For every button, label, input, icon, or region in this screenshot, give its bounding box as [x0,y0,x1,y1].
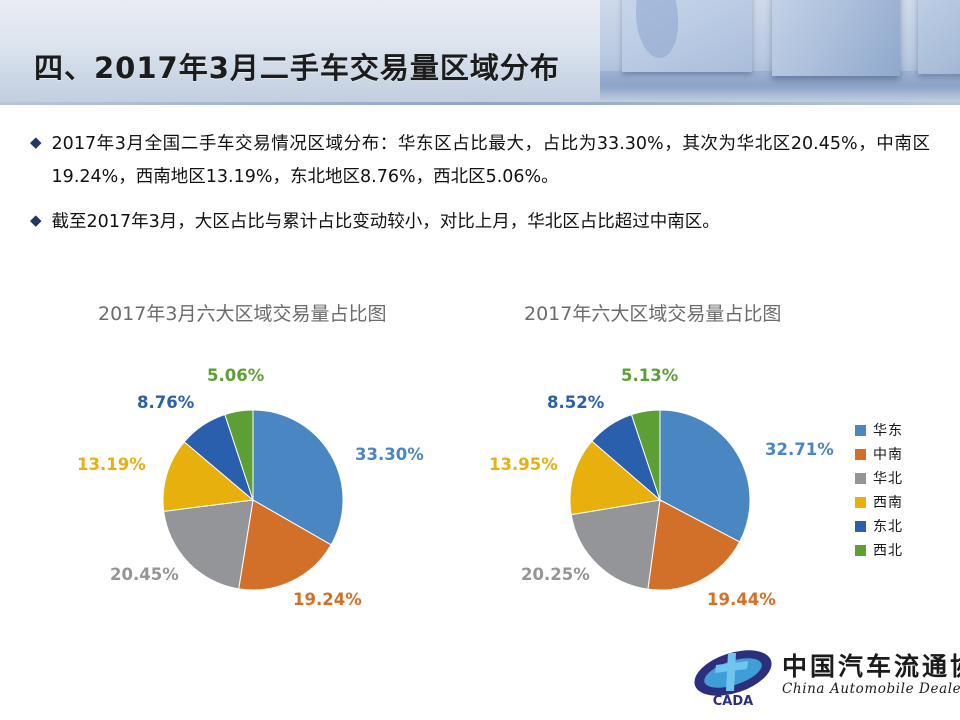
chart-legend: 华东中南华北西南东北西北 [855,418,903,562]
bullet-text: 2017年3月全国二手车交易情况区域分布：华东区占比最大，占比为33.30%，其… [52,128,930,194]
bullet-item: ◆ 截至2017年3月，大区占比与累计占比变动较小，对比上月，华北区占比超过中南… [30,206,930,239]
legend-swatch-icon [855,545,866,556]
diamond-bullet-icon: ◆ [30,206,42,236]
header-underline [0,102,960,105]
legend-label: 西南 [873,492,903,512]
pie-value-label-华东: 33.30% [355,445,424,464]
legend-item-中南[interactable]: 中南 [855,442,903,466]
cada-abbr: CADA [713,694,753,709]
chart-title-monthly: 2017年3月六大区域交易量占比图 [98,299,386,326]
legend-item-西北[interactable]: 西北 [855,538,903,562]
page-title: 四、2017年3月二手车交易量区域分布 [34,45,560,87]
legend-item-华北[interactable]: 华北 [855,466,903,490]
logo-chinese-name: 中国汽车流通协会 [782,647,960,683]
pie-value-label-西北: 5.06% [207,366,264,385]
pie-value-label-西南: 13.95% [489,455,558,474]
legend-swatch-icon [855,521,866,532]
bullet-item: ◆ 2017年3月全国二手车交易情况区域分布：华东区占比最大，占比为33.30%… [30,128,930,194]
legend-swatch-icon [855,449,866,460]
legend-item-西南[interactable]: 西南 [855,490,903,514]
pie-value-label-东北: 8.52% [547,393,604,412]
pie-value-label-东北: 8.76% [137,393,194,412]
cube-shape-2 [772,0,900,76]
legend-swatch-icon [855,497,866,508]
pie-value-label-中南: 19.24% [293,590,362,609]
cube-shape-3 [918,0,960,74]
pie-slices-cumulative [570,410,750,590]
pie-chart-cumulative: 32.71%19.44%20.25%13.95%8.52%5.13% [425,350,905,650]
pie-value-label-华北: 20.45% [110,565,179,584]
legend-label: 西北 [873,540,903,560]
pie-chart-monthly: 33.30%19.24%20.45%13.19%8.76%5.06% [15,350,495,650]
legend-label: 东北 [873,516,903,536]
legend-item-东北[interactable]: 东北 [855,514,903,538]
pie-value-label-西北: 5.13% [621,366,678,385]
pie-slices-monthly [163,410,343,590]
pie-svg-monthly [15,350,495,650]
header-cubes-image [600,0,960,105]
cubes-floor [600,71,960,105]
slide-header: 四、2017年3月二手车交易量区域分布 [0,0,960,105]
pie-svg-cumulative [425,350,905,650]
legend-label: 华东 [873,420,903,440]
cada-logo-mark-icon: CADA [690,647,776,709]
pie-value-label-中南: 19.44% [707,590,776,609]
legend-item-华东[interactable]: 华东 [855,418,903,442]
legend-label: 华北 [873,468,903,488]
pie-value-label-华东: 32.71% [765,440,834,459]
legend-swatch-icon [855,473,866,484]
legend-label: 中南 [873,444,903,464]
chart-title-cumulative: 2017年六大区域交易量占比图 [524,299,781,326]
logo-english-name: China Automobile Dealers Association [782,681,960,697]
bullet-list: ◆ 2017年3月全国二手车交易情况区域分布：华东区占比最大，占比为33.30%… [30,128,930,251]
slide-root: 四、2017年3月二手车交易量区域分布 ◆ 2017年3月全国二手车交易情况区域… [0,0,960,720]
pie-value-label-西南: 13.19% [77,455,146,474]
legend-swatch-icon [855,425,866,436]
pie-value-label-华北: 20.25% [521,565,590,584]
cada-logo: CADA 中国汽车流通协会 China Automobile Dealers A… [690,645,950,713]
bullet-text: 截至2017年3月，大区占比与累计占比变动较小，对比上月，华北区占比超过中南区。 [52,206,720,239]
diamond-bullet-icon: ◆ [30,128,42,158]
cube-shape-1 [622,0,752,72]
